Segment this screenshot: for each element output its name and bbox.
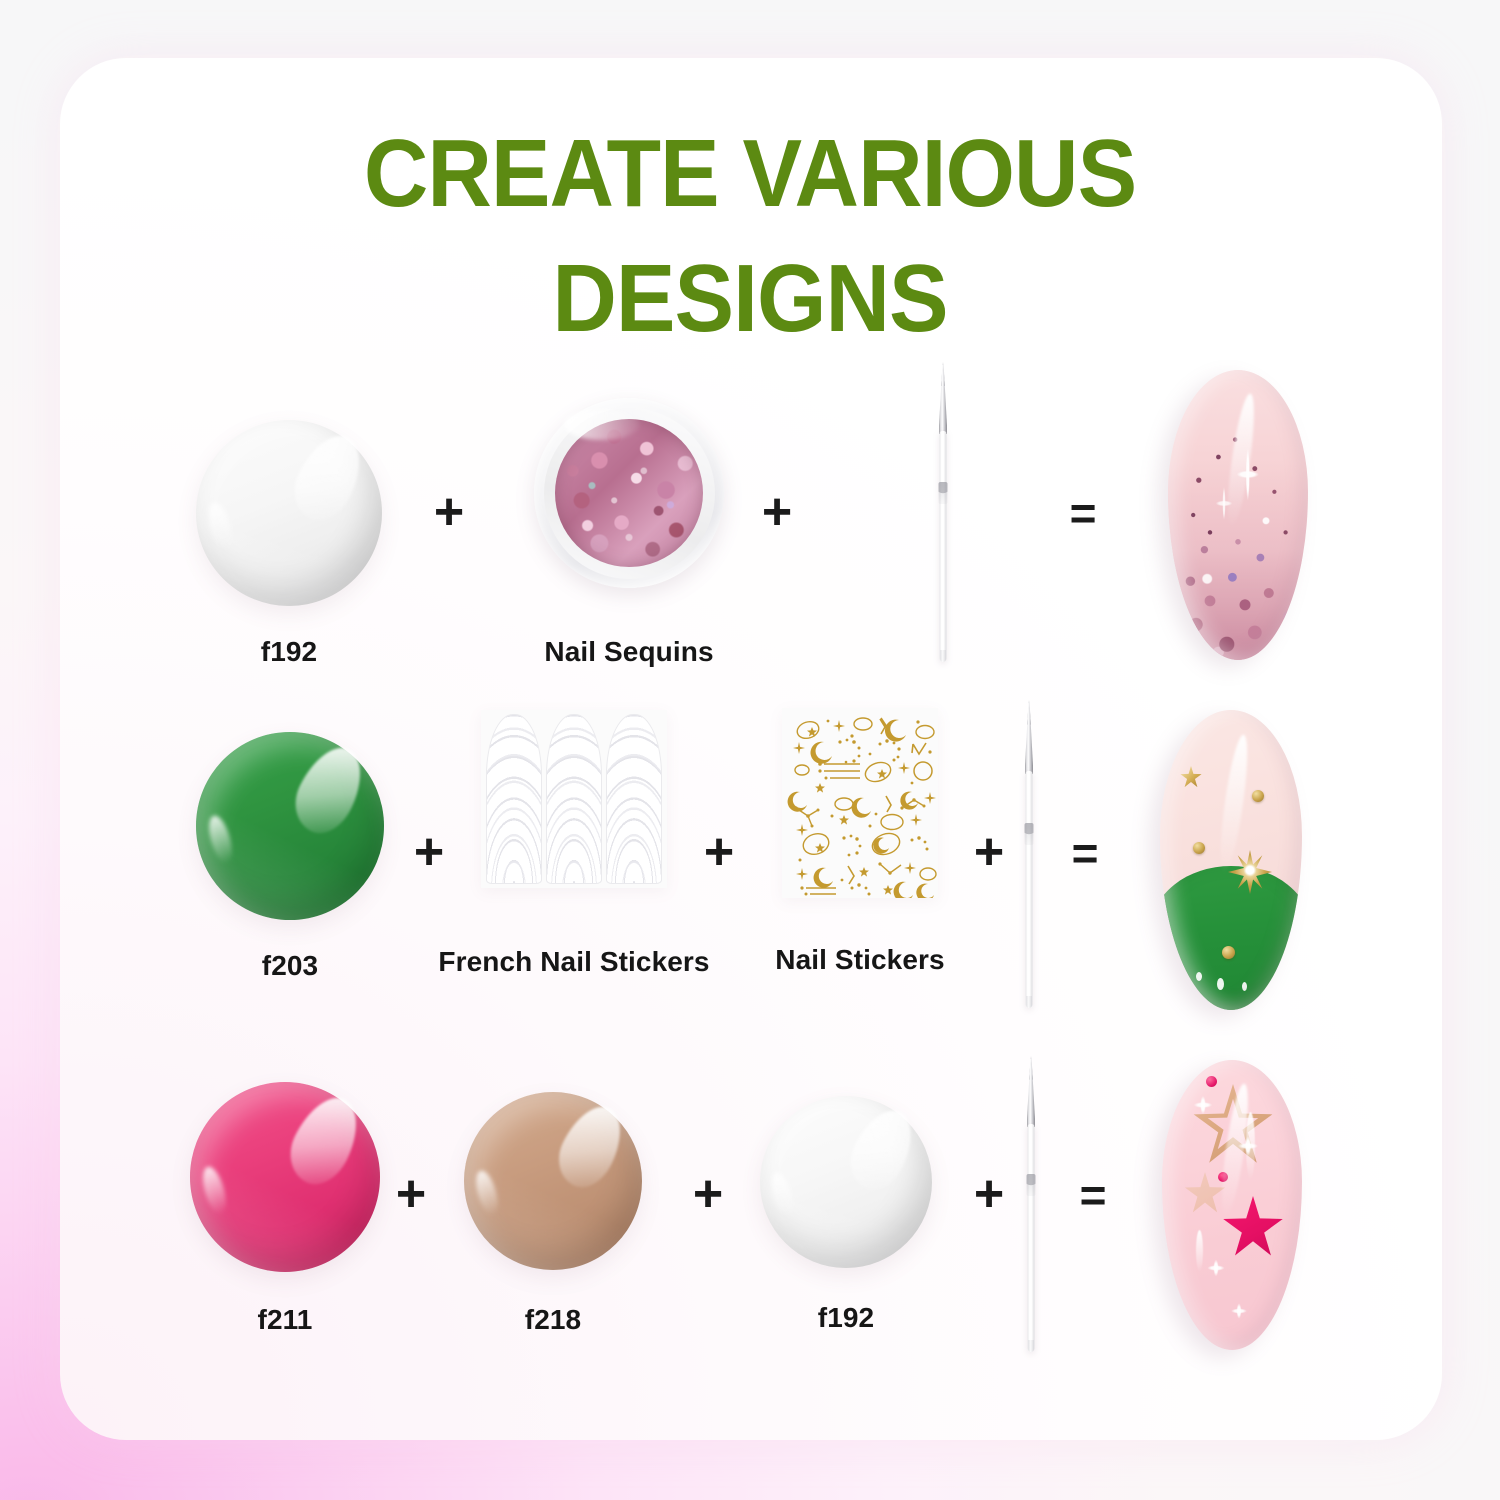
gold-sticker-sheet [782,708,938,898]
brush-ferrule [1025,703,1033,774]
strip-arc-lines-secondary [547,715,601,883]
french-sticker-sheet [481,710,667,888]
brush-ferrule [1027,1059,1035,1127]
polish-drop [190,1082,380,1272]
item-label: French Nail Stickers [430,946,718,978]
result-nail-pink-stars [1162,1060,1302,1350]
brush-logo-icon [1027,1174,1036,1196]
result-nail-glitter-ombre [1168,370,1308,660]
sequins-jar-graphic [534,398,724,588]
item-label: f218 [464,1304,642,1336]
jar-highlight [564,409,640,439]
brush-handle [1026,771,1033,1008]
brush-end-cap [1028,1340,1034,1352]
brush-end-cap [1026,996,1032,1008]
plus-operator: + [683,1168,733,1220]
nail-art-brush [908,362,978,662]
design-row-3: f211 + f218 + f192 + = [0,1040,1500,1370]
polish-f203-green: f203 [196,732,384,920]
jar-glitter-fill [555,419,703,567]
equals-operator: = [1068,1172,1118,1218]
drop-rim [464,1092,642,1270]
brush-ferrule [939,365,947,434]
brush-logo-icon [939,482,948,504]
page-title: CREATE VARIOUS DESIGNS [53,112,1448,362]
gold-sticker-art [782,708,938,898]
polish-f211-pink: f211 [190,1082,380,1272]
drop-rim [196,420,382,606]
equals-operator: = [1058,490,1108,536]
item-label: f192 [760,1302,932,1334]
plus-operator: + [752,486,802,538]
design-row-2: f203 + French Nail Stickers + [0,700,1500,1030]
french-sticker-strip [607,715,661,883]
brush-logo-icon [1025,823,1034,845]
nail-art-brush [996,1056,1066,1352]
polish-drop [196,420,382,606]
polish-f192-white: f192 [196,420,382,606]
drop-rim [190,1082,380,1272]
polish-drop [760,1096,932,1268]
item-label: Nail Sequins [534,636,724,668]
brush-handle [940,431,947,662]
item-label: f211 [190,1304,380,1336]
brush-end-cap [940,650,946,662]
polish-drop [196,732,384,920]
brush-handle [1028,1124,1035,1352]
strip-arc-lines-secondary [487,715,541,883]
polish-drop [464,1092,642,1270]
equals-operator: = [1060,830,1110,876]
design-row-1: f192 + Nail Sequins + = [0,358,1500,678]
drop-rim [196,732,384,920]
plus-operator: + [424,486,474,538]
nail-art-brush [994,700,1064,1008]
strip-arc-lines-secondary [607,715,661,883]
french-nail-stickers: French Nail Stickers [430,710,718,888]
nail-sequins-jar: Nail Sequins [534,398,724,588]
polish-f192-white: f192 [760,1096,932,1268]
title-line-2: DESIGNS [53,237,1448,362]
polish-f218-nude: f218 [464,1092,642,1270]
french-sticker-strip [487,715,541,883]
item-label: Nail Stickers [722,944,998,976]
plus-operator: + [386,1168,436,1220]
french-sticker-strip [547,715,601,883]
item-label: f203 [196,950,384,982]
drop-rim [760,1096,932,1268]
nail-stickers-gold: Nail Stickers [722,708,998,898]
title-line-1: CREATE VARIOUS [364,120,1136,227]
item-label: f192 [196,636,382,668]
result-nail-green-french [1160,710,1302,1010]
